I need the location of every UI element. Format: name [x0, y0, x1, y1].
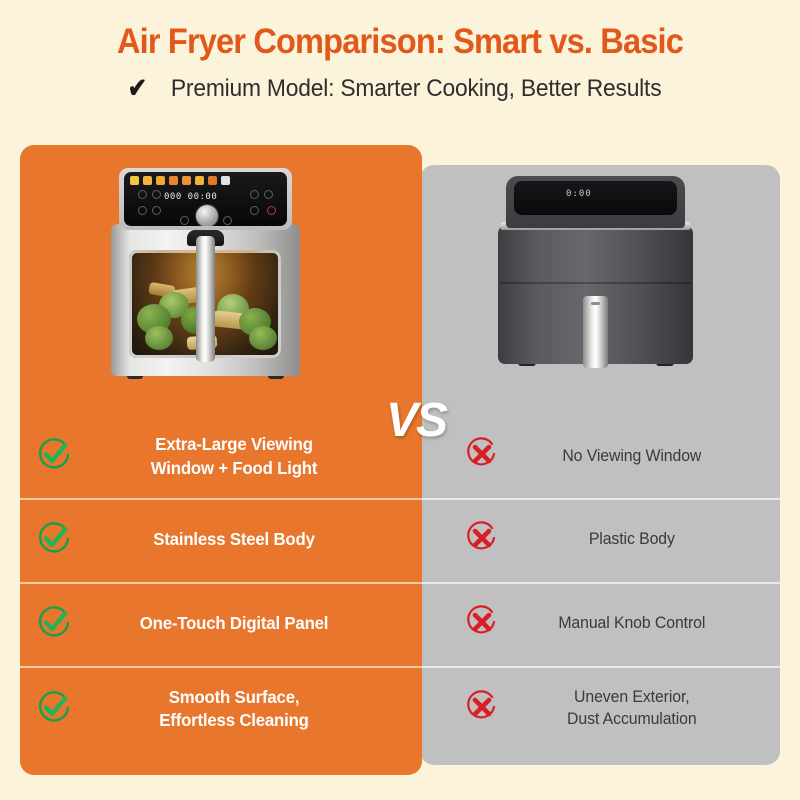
check-circle-icon	[36, 604, 72, 645]
feature-row: Smooth Surface,Effortless Cleaning Uneve…	[0, 666, 800, 752]
basic-air-fryer-image: 0:00	[488, 170, 703, 370]
cross-circle-icon	[465, 521, 499, 560]
basic-control-panel: 0:00	[506, 176, 685, 228]
feature-pro-label: Smooth Surface,Effortless Cleaning	[79, 686, 414, 733]
row-divider	[20, 498, 421, 500]
power-button[interactable]	[267, 206, 276, 215]
feature-row-pro: Extra-Large ViewingWindow + Food Light	[0, 415, 421, 498]
feature-row-pro: Smooth Surface,Effortless Cleaning	[0, 666, 421, 752]
premium-air-fryer-image: 000 00:00	[103, 168, 308, 398]
row-divider	[421, 498, 780, 500]
cross-circle-icon	[465, 605, 499, 644]
feature-row-pro: One-Touch Digital Panel	[0, 582, 421, 666]
basic-display-text: 0:00	[566, 189, 592, 199]
feature-row-con: Manual Knob Control	[421, 582, 780, 666]
feature-con-label: Uneven Exterior,Dust Accumulation	[505, 687, 775, 731]
cross-circle-icon	[465, 437, 499, 476]
feature-pro-label: Stainless Steel Body	[79, 528, 414, 551]
feature-pro-label: Extra-Large ViewingWindow + Food Light	[79, 433, 414, 480]
premium-handle	[196, 236, 215, 362]
versus-badge: VS	[386, 393, 446, 448]
product-images-area: 000 00:00	[0, 145, 800, 415]
preset-icons	[130, 176, 230, 185]
check-circle-icon	[36, 520, 72, 561]
feature-row-pro: Stainless Steel Body	[0, 498, 421, 582]
feature-con-label: Plastic Body	[505, 529, 775, 551]
feature-rows: Extra-Large ViewingWindow + Food Light N…	[0, 415, 800, 752]
feature-pro-label: One-Touch Digital Panel	[79, 612, 414, 635]
row-divider	[20, 666, 421, 668]
feature-row-con: No Viewing Window	[421, 415, 780, 498]
check-circle-icon	[36, 436, 72, 477]
feature-row: Stainless Steel Body Plastic Body	[0, 498, 800, 582]
basic-handle	[583, 296, 608, 368]
feature-row: One-Touch Digital Panel Manual Knob Cont…	[0, 582, 800, 666]
row-divider	[421, 582, 780, 584]
row-divider	[20, 582, 421, 584]
premium-display-text: 000 00:00	[164, 192, 217, 202]
row-divider	[421, 666, 780, 668]
cross-circle-icon	[465, 690, 499, 729]
comparison-board: 000 00:00	[0, 0, 800, 800]
check-circle-icon	[36, 689, 72, 730]
feature-con-label: Manual Knob Control	[505, 613, 775, 635]
control-knob[interactable]	[196, 205, 218, 226]
premium-control-panel: 000 00:00	[119, 168, 292, 230]
feature-con-label: No Viewing Window	[505, 446, 775, 468]
feature-row-con: Plastic Body	[421, 498, 780, 582]
feature-row-con: Uneven Exterior,Dust Accumulation	[421, 666, 780, 752]
